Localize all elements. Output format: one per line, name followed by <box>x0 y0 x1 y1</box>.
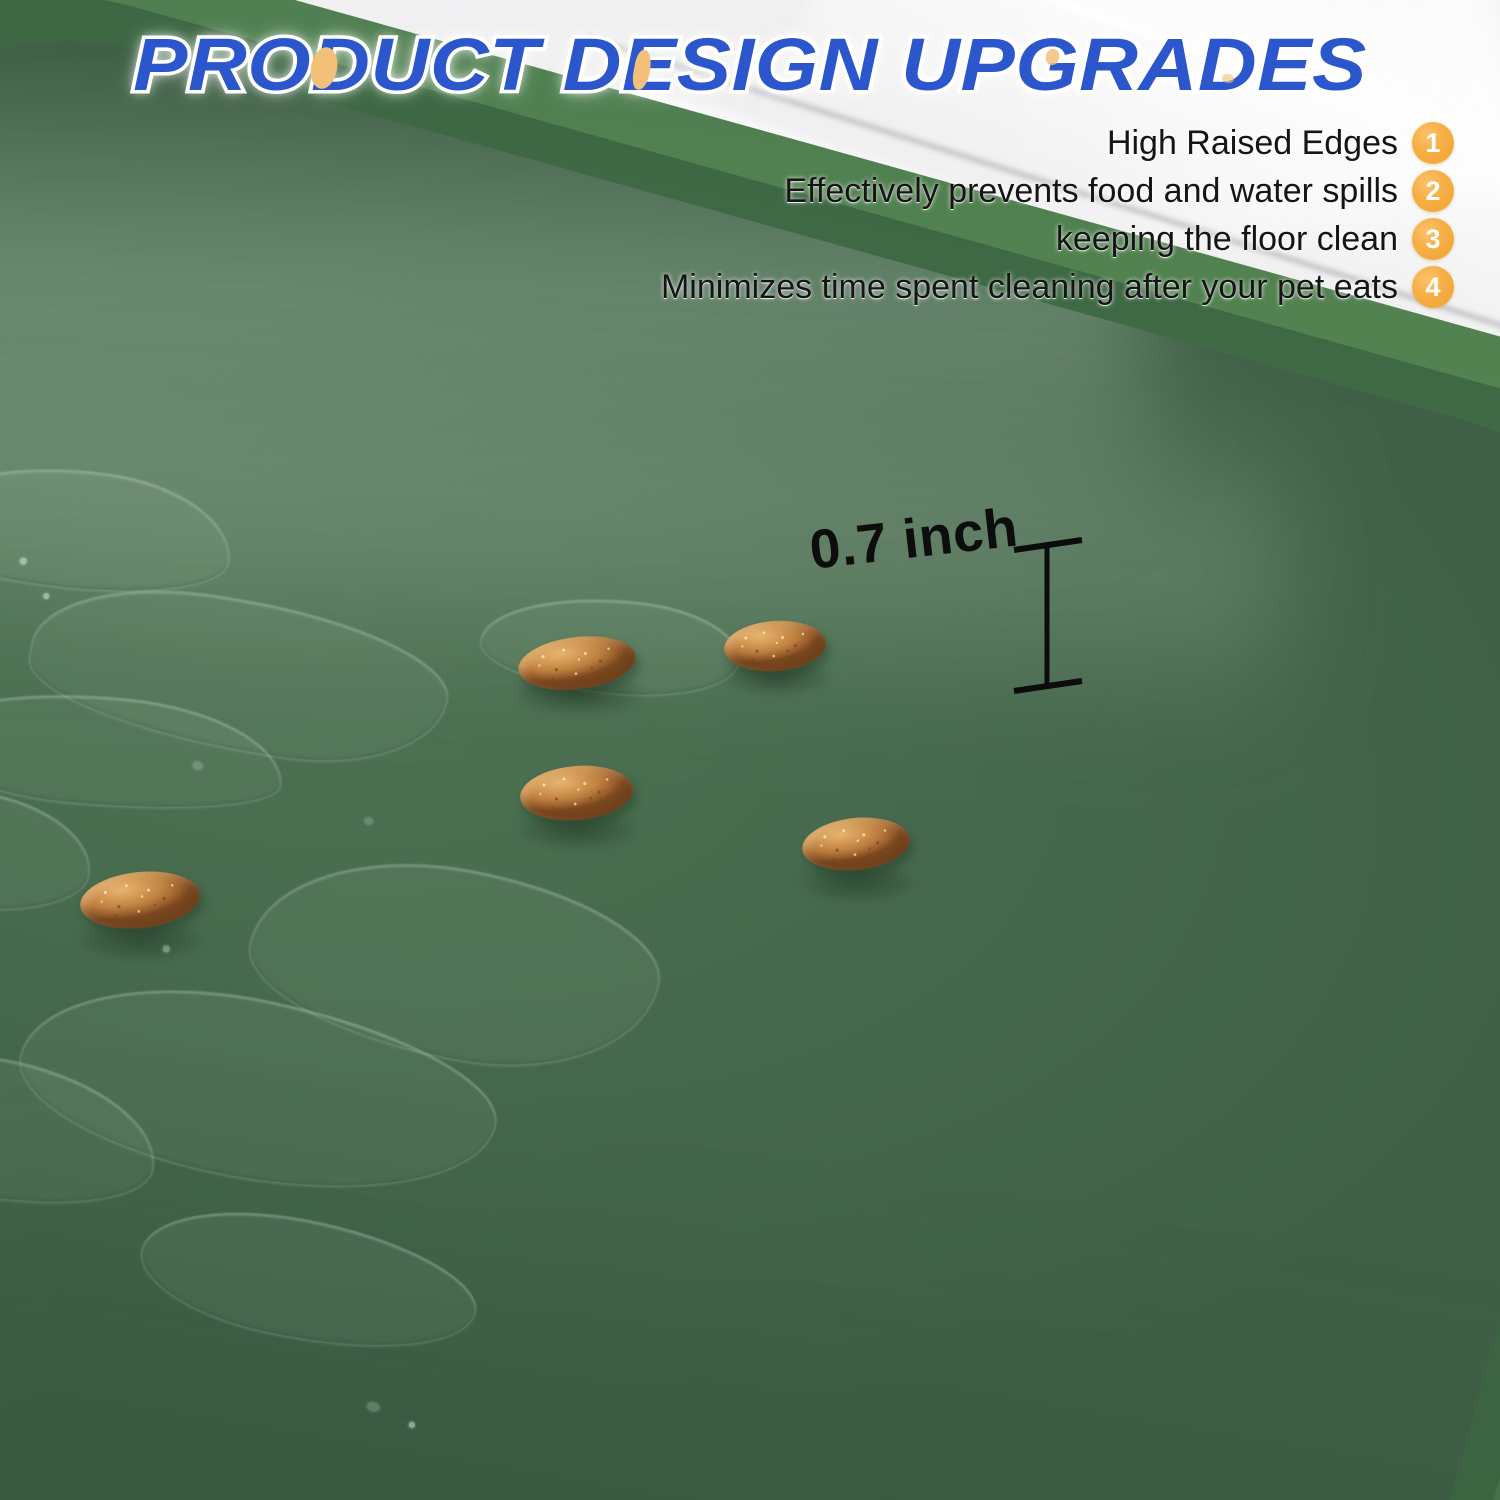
feature-label: Effectively prevents food and water spil… <box>784 172 1398 211</box>
feature-list-item: High Raised Edges 1 <box>1107 122 1454 164</box>
dimension-marker-icon <box>1008 533 1088 698</box>
product-marketing-image: 0.7 inch PRODUCT DESIGN UPGRADES High Ra… <box>0 0 1500 1500</box>
water-droplet <box>364 817 373 825</box>
feature-label: keeping the floor clean <box>1056 220 1398 259</box>
feature-number-badge: 4 <box>1412 266 1454 308</box>
feature-list-item: Effectively prevents food and water spil… <box>784 170 1454 212</box>
feature-number-badge: 2 <box>1412 170 1454 212</box>
feature-list-item: Minimizes time spent cleaning after your… <box>661 266 1454 308</box>
feature-list: High Raised Edges 1 Effectively prevents… <box>474 122 1454 308</box>
feature-label: Minimizes time spent cleaning after your… <box>661 268 1398 307</box>
feature-label: High Raised Edges <box>1107 124 1398 163</box>
feature-list-item: keeping the floor clean 3 <box>1056 218 1454 260</box>
feature-number-badge: 3 <box>1412 218 1454 260</box>
feature-number-badge: 1 <box>1412 122 1454 164</box>
page-title: PRODUCT DESIGN UPGRADES <box>0 22 1500 107</box>
